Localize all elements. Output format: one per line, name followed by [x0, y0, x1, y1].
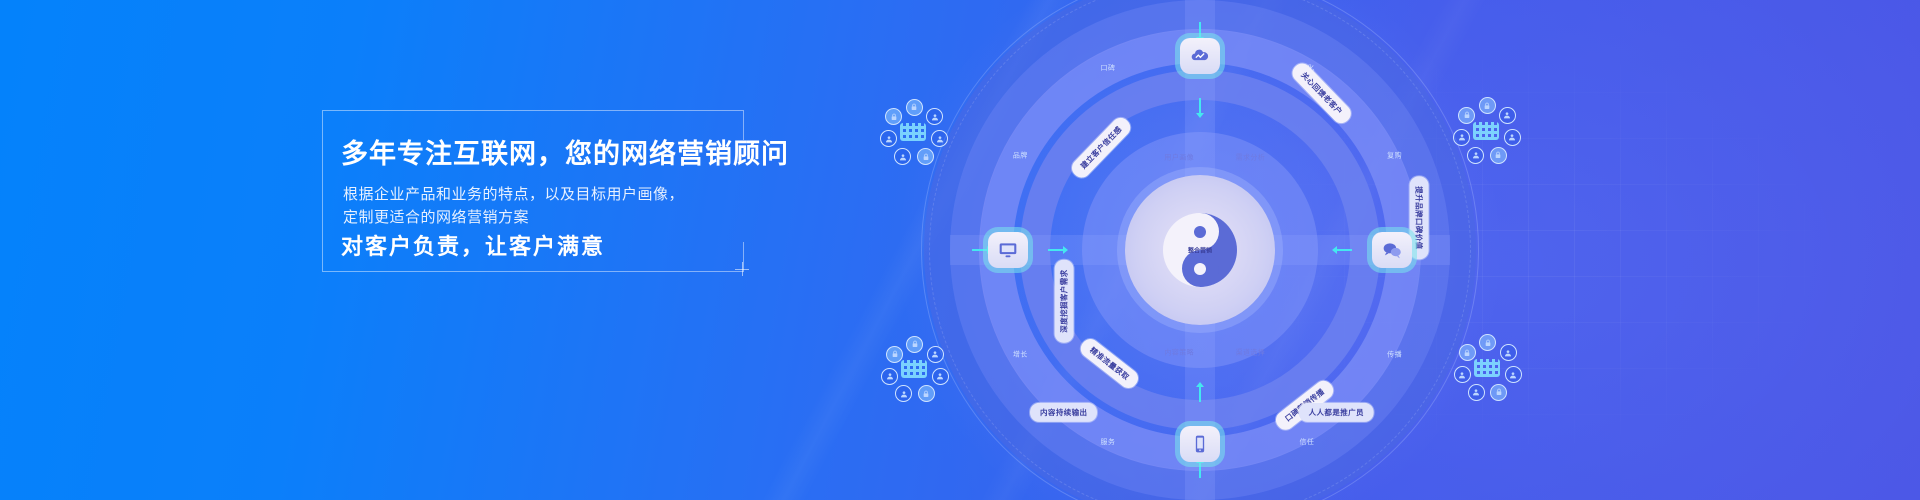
- person-icon: [1503, 111, 1511, 119]
- pod-monitor[interactable]: [988, 232, 1028, 268]
- cluster-node: [895, 385, 912, 402]
- cluster-node: [1453, 129, 1470, 146]
- person-icon: [885, 135, 893, 143]
- inner-label-3: 内容策略: [1164, 348, 1194, 358]
- person-icon: [1472, 151, 1480, 159]
- copy-bracket-frame: 多年专注互联网，您的网络营销顾问 根据企业产品和业务的特点，以及目标用户画像， …: [322, 110, 743, 272]
- flow-arrow-left: [972, 249, 988, 251]
- cloud-chart-icon: [1190, 46, 1210, 66]
- person-icon: [1508, 133, 1516, 141]
- wheel-chip-6: 内容持续输出: [1030, 403, 1097, 422]
- marketing-banner: 多年专注互联网，您的网络营销顾问 根据企业产品和业务的特点，以及目标用户画像， …: [0, 0, 1920, 500]
- person-icon: [1509, 371, 1517, 379]
- ring-label-0: 品牌: [1013, 150, 1028, 160]
- cluster-node: [1454, 366, 1471, 383]
- cluster-node: [918, 385, 935, 402]
- cluster-node: [1505, 366, 1522, 383]
- cluster-node: [881, 368, 898, 385]
- subtitle-line-2: 定制更适合的网络营销方案: [343, 206, 684, 229]
- flow-arrow-bottom: [1199, 462, 1201, 478]
- person-icon: [1458, 133, 1466, 141]
- person-icon: [886, 372, 894, 380]
- lock-icon: [1495, 388, 1503, 396]
- person-icon: [1504, 349, 1512, 357]
- cluster-node: [1479, 97, 1496, 114]
- person-icon: [936, 372, 944, 380]
- person-icon: [1458, 371, 1466, 379]
- subtitle: 根据企业产品和业务的特点，以及目标用户画像， 定制更适合的网络营销方案: [343, 183, 684, 230]
- inner-label-2: 渠道选择: [1236, 348, 1266, 358]
- cluster-node: [1467, 147, 1484, 164]
- cluster-node: [1504, 129, 1521, 146]
- cluster-node: [1490, 384, 1507, 401]
- cluster-node: [1490, 147, 1507, 164]
- satellite-cluster: [877, 332, 951, 406]
- ring-label-5: 信任: [1300, 437, 1315, 447]
- satellite-cluster: [1450, 331, 1524, 405]
- lock-icon: [922, 153, 930, 161]
- ring-label-7: 增长: [1013, 350, 1028, 360]
- network-grid-icon: [1474, 359, 1500, 377]
- lock-icon: [1483, 102, 1491, 110]
- lock-icon: [911, 340, 919, 348]
- mobile-phone-icon: [1190, 434, 1210, 454]
- flow-arrow-right-inner: [1336, 249, 1352, 251]
- pod-cloud-chart[interactable]: [1180, 38, 1220, 74]
- wheel-chip-7: 人人都是推广员: [1299, 403, 1374, 422]
- person-icon: [900, 390, 908, 398]
- lock-icon: [910, 103, 918, 111]
- wheel-chip-2: 深度挖掘客户需求: [1055, 260, 1074, 343]
- lock-icon: [1484, 339, 1492, 347]
- inner-label-0: 用户画像: [1164, 152, 1194, 162]
- cluster-node: [906, 99, 923, 116]
- cluster-node: [1459, 344, 1476, 361]
- inner-label-1: 需求分析: [1236, 152, 1266, 162]
- cluster-node: [917, 148, 934, 165]
- pod-mobile[interactable]: [1180, 426, 1220, 462]
- person-icon: [936, 135, 944, 143]
- taiji-dot-light: [1194, 263, 1206, 275]
- cluster-node: [906, 336, 923, 353]
- chat-bubbles-icon: [1382, 240, 1402, 260]
- network-grid-icon: [901, 360, 927, 378]
- cluster-node: [1500, 344, 1517, 361]
- wheel-hub: 整合营销: [1125, 175, 1275, 325]
- subtitle-line-1: 根据企业产品和业务的特点，以及目标用户画像，: [343, 183, 684, 206]
- ring-label-4: 传播: [1387, 350, 1402, 360]
- satellite-cluster: [1044, 0, 1118, 1]
- lock-icon: [1463, 111, 1471, 119]
- satellite-cluster: [876, 95, 950, 169]
- ring-label-1: 口碑: [1100, 63, 1115, 73]
- ring-label-3: 复购: [1387, 150, 1402, 160]
- lock-icon: [922, 390, 930, 398]
- flow-arrow-bottom-inner: [1199, 386, 1201, 402]
- monitor-icon: [998, 240, 1018, 260]
- cluster-node: [894, 148, 911, 165]
- person-icon: [1472, 388, 1480, 396]
- lock-icon: [890, 113, 898, 121]
- flow-arrow-top-inner: [1199, 98, 1201, 114]
- slogan: 对客户负责，让客户满意: [341, 236, 605, 258]
- flow-arrow-left-inner: [1048, 249, 1064, 251]
- cluster-node: [880, 130, 897, 147]
- page-title: 多年专注互联网，您的网络营销顾问: [341, 141, 789, 168]
- cluster-node: [1499, 107, 1516, 124]
- person-icon: [899, 153, 907, 161]
- cluster-node: [931, 130, 948, 147]
- pod-chat[interactable]: [1372, 232, 1412, 268]
- lock-icon: [891, 350, 899, 358]
- cluster-node: [932, 368, 949, 385]
- ring-label-6: 服务: [1100, 437, 1115, 447]
- network-grid-icon: [1473, 122, 1499, 140]
- satellite-cluster: [1449, 94, 1523, 168]
- cluster-node: [926, 108, 943, 125]
- cluster-node: [1458, 107, 1475, 124]
- person-icon: [931, 350, 939, 358]
- cluster-node: [886, 346, 903, 363]
- cluster-node: [885, 108, 902, 125]
- marketing-wheel-infographic: 品牌 口碑 转化 复购 传播 信任 服务 增长 建立客户信任感 关心回馈老客户 …: [880, 0, 1520, 500]
- cluster-node: [927, 346, 944, 363]
- wheel-chip-3: 提升品牌口碑价值: [1410, 176, 1429, 259]
- cluster-node: [1479, 334, 1496, 351]
- hub-label: 整合营销: [1188, 246, 1212, 255]
- cluster-node: [1468, 384, 1485, 401]
- person-icon: [931, 113, 939, 121]
- network-grid-icon: [900, 123, 926, 141]
- taiji-dot-dark: [1194, 226, 1206, 238]
- flow-arrow-top: [1199, 22, 1201, 38]
- lock-icon: [1494, 151, 1502, 159]
- lock-icon: [1463, 349, 1471, 357]
